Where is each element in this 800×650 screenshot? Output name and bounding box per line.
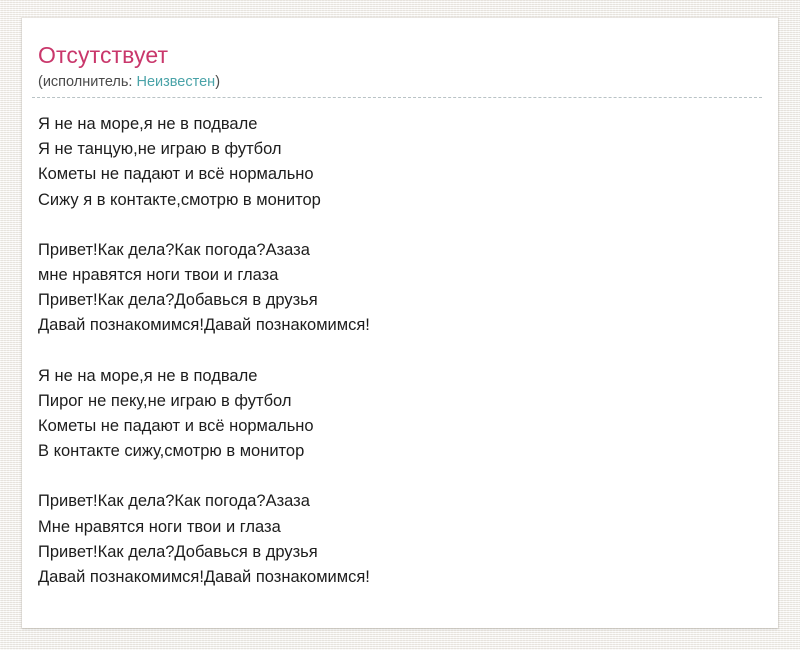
song-header: Отсутствует (исполнитель: Неизвестен) bbox=[22, 18, 778, 92]
lyric-line: Сижу я в контакте,смотрю в монитор bbox=[38, 188, 778, 213]
lyric-line: Привет!Как дела?Как погода?Азаза bbox=[38, 489, 778, 514]
lyrics-verse: Привет!Как дела?Как погода?АзазаМне нрав… bbox=[38, 489, 778, 590]
lyric-line: Я не танцую,не играю в футбол bbox=[38, 137, 778, 162]
lyric-line: Давай познакомимся!Давай познакомимся! bbox=[38, 565, 778, 590]
lyrics-verse: Привет!Как дела?Как погода?Азазамне нрав… bbox=[38, 238, 778, 339]
lyrics-verse: Я не на море,я не в подвалеЯ не танцую,н… bbox=[38, 112, 778, 213]
artist-line: (исполнитель: Неизвестен) bbox=[38, 72, 778, 92]
lyric-line: Кометы не падают и всё нормально bbox=[38, 414, 778, 439]
lyric-line: Привет!Как дела?Добавься в друзья bbox=[38, 288, 778, 313]
lyric-line: В контакте сижу,смотрю в монитор bbox=[38, 439, 778, 464]
lyric-line: Я не на море,я не в подвале bbox=[38, 364, 778, 389]
lyrics-verse: Я не на море,я не в подвалеПирог не пеку… bbox=[38, 364, 778, 465]
page-title: Отсутствует bbox=[38, 42, 778, 68]
lyric-line: Привет!Как дела?Как погода?Азаза bbox=[38, 238, 778, 263]
artist-suffix-label: ) bbox=[215, 74, 220, 90]
lyric-line: Пирог не пеку,не играю в футбол bbox=[38, 389, 778, 414]
lyric-line: мне нравятся ноги твои и глаза bbox=[38, 263, 778, 288]
lyrics-card: Отсутствует (исполнитель: Неизвестен) Я … bbox=[22, 18, 778, 628]
lyric-line: Давай познакомимся!Давай познакомимся! bbox=[38, 313, 778, 338]
artist-prefix-label: (исполнитель: bbox=[38, 74, 136, 90]
lyric-line: Кометы не падают и всё нормально bbox=[38, 162, 778, 187]
lyric-line: Мне нравятся ноги твои и глаза bbox=[38, 515, 778, 540]
lyrics-body: Я не на море,я не в подвалеЯ не танцую,н… bbox=[22, 98, 778, 590]
lyric-line: Я не на море,я не в подвале bbox=[38, 112, 778, 137]
artist-link[interactable]: Неизвестен bbox=[136, 74, 215, 90]
lyric-line: Привет!Как дела?Добавься в друзья bbox=[38, 540, 778, 565]
